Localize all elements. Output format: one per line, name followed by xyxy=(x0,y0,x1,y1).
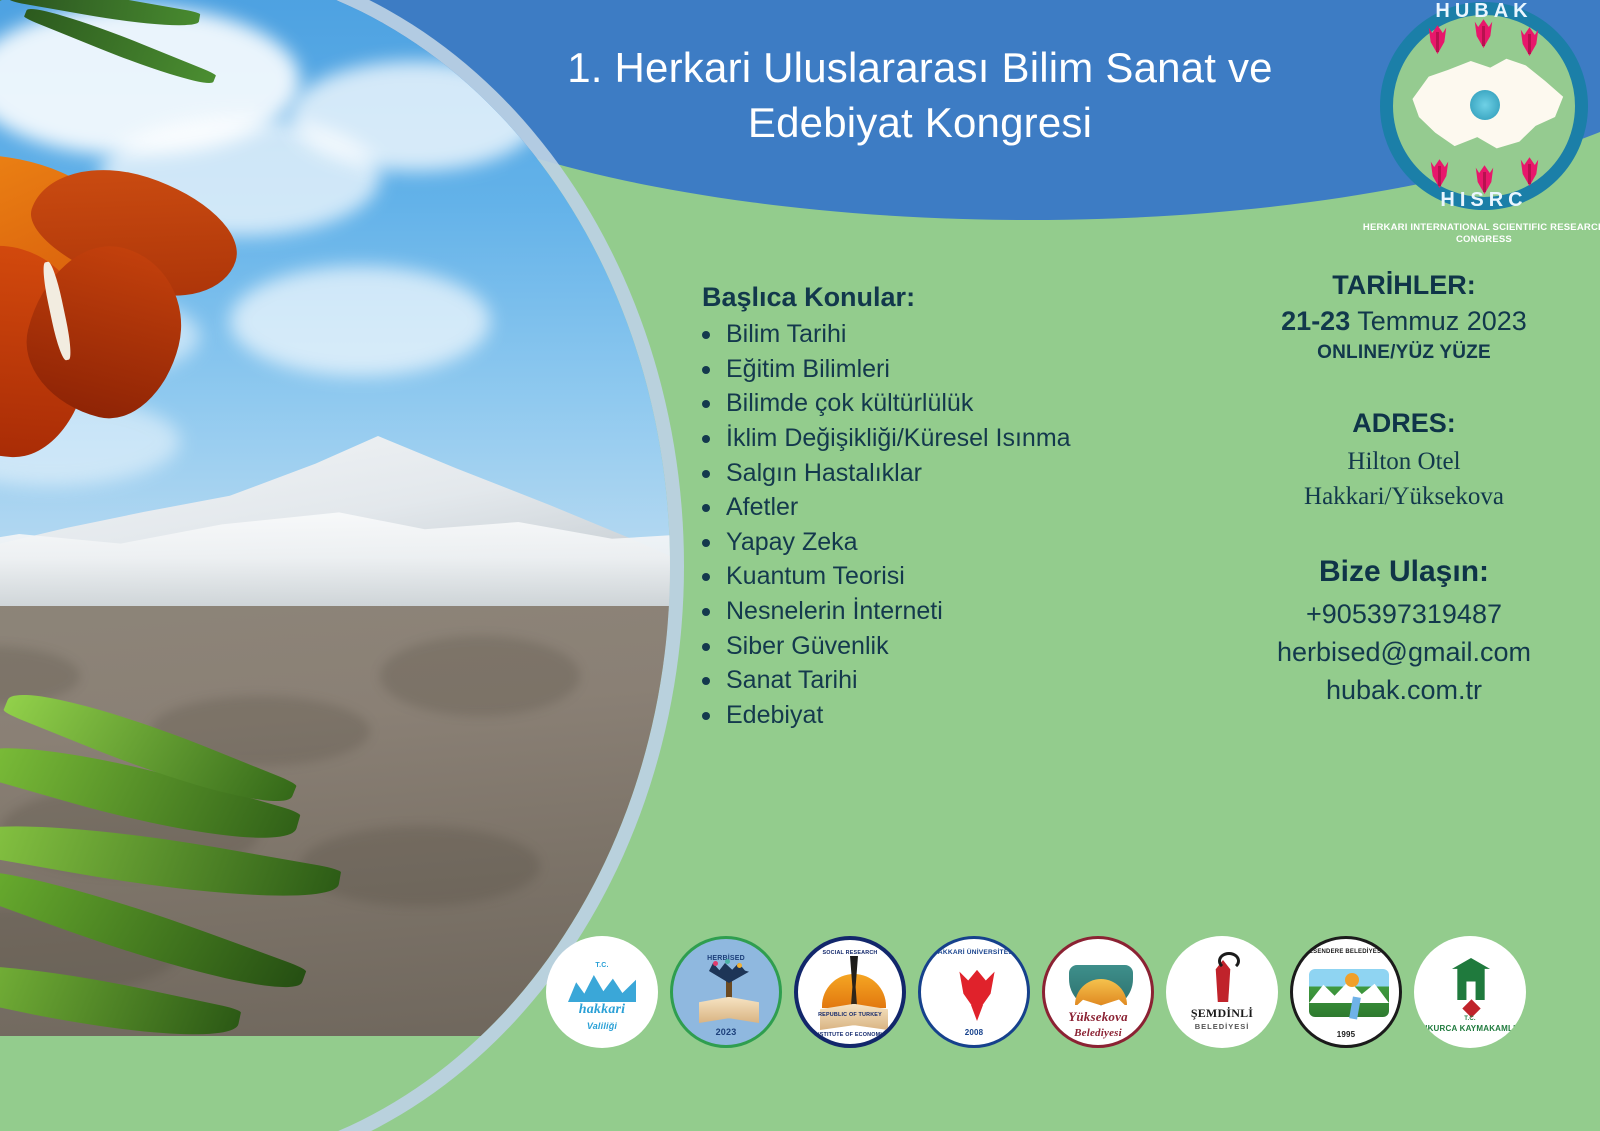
page-title: 1. Herkari Uluslararası Bilim Sanat ve E… xyxy=(470,40,1370,151)
contact-website[interactable]: hubak.com.tr xyxy=(1208,671,1600,709)
list-item: Yapay Zeka xyxy=(694,525,1164,560)
sponsor-2-line3: INSTITUTE OF ECONOMIC xyxy=(798,1032,902,1038)
sponsor-hakkari-universitesi: HAKKARİ ÜNİVERSİTESİ 2008 xyxy=(918,936,1030,1048)
dates-month-year: Temmuz 2023 xyxy=(1350,306,1527,336)
diamond-icon xyxy=(1462,999,1480,1017)
sponsor-yuksekova-belediyesi: Yüksekova Belediyesi xyxy=(1042,936,1154,1048)
list-item: Siber Güvenlik xyxy=(694,629,1164,664)
sponsor-0-line2: hakkari xyxy=(546,1002,658,1018)
list-item: Bilimde çok kültürlülük xyxy=(694,386,1164,421)
logo-subtitle-line-1: HERKARI INTERNATIONAL SCIENTIFIC RESEARC… xyxy=(1330,222,1600,234)
sponsor-5-line3: BELEDİYESİ xyxy=(1166,1022,1278,1031)
logo-subtitle: HERKARI INTERNATIONAL SCIENTIFIC RESEARC… xyxy=(1330,222,1600,246)
sponsor-6-line1: ESENDERE BELEDİYESİ xyxy=(1293,949,1399,955)
sponsor-hakkari-valiligi: T.C. hakkari Valiliği xyxy=(546,936,658,1048)
contact-heading: Bize Ulaşın: xyxy=(1208,555,1600,589)
sponsor-3-line3: 2008 xyxy=(921,1028,1027,1037)
contact-details: +905397319487 herbised@gmail.com hubak.c… xyxy=(1208,595,1600,710)
list-item: Bilim Tarihi xyxy=(694,317,1164,352)
sponsor-herbised: HERBİSED 2023 xyxy=(670,936,782,1048)
contact-email[interactable]: herbised@gmail.com xyxy=(1208,633,1600,671)
list-item: Nesnelerin İnterneti xyxy=(694,594,1164,629)
dates-mode: ONLINE/YÜZ YÜZE xyxy=(1208,342,1600,364)
contact-phone[interactable]: +905397319487 xyxy=(1208,595,1600,633)
topics-list: Bilim Tarihi Eğitim Bilimleri Bilimde ço… xyxy=(694,317,1164,733)
dates-range: 21-23 xyxy=(1281,306,1350,336)
title-line-1: 1. Herkari Uluslararası Bilim Sanat ve xyxy=(470,40,1370,95)
list-item: Eğitim Bilimleri xyxy=(694,352,1164,387)
dates-heading: TARİHLER: xyxy=(1208,270,1600,302)
book-icon xyxy=(699,997,759,1023)
logo-top-text: HUBAK xyxy=(1380,0,1588,23)
sponsor-esendere-belediyesi: ESENDERE BELEDİYESİ 1995 xyxy=(1290,936,1402,1048)
address-line-1: Hilton Otel xyxy=(1208,444,1600,480)
info-column: TARİHLER: 21-23 Temmuz 2023 ONLINE/YÜZ Y… xyxy=(1208,270,1600,710)
logo-bottom-text: HISRC xyxy=(1380,189,1588,212)
sponsor-5-line2: ŞEMDİNLİ xyxy=(1166,1006,1278,1021)
dates-value: 21-23 Temmuz 2023 xyxy=(1208,304,1600,338)
sponsor-cukurca-kaymakamligi: T.C. ÇUKURCA KAYMAKAMLIĞI xyxy=(1414,936,1526,1048)
sponsor-2-line1: SOCIAL RESEARCH xyxy=(798,950,902,956)
sponsor-7-line3: ÇUKURCA KAYMAKAMLIĞI xyxy=(1414,1024,1526,1033)
sponsor-1-line3: 2023 xyxy=(673,1027,779,1037)
topics-section: Başlıca Konular: Bilim Tarihi Eğitim Bil… xyxy=(694,282,1164,733)
sponsor-0-line3: Valiliği xyxy=(546,1021,658,1031)
sponsor-6-line3: 1995 xyxy=(1293,1030,1399,1039)
globe-icon xyxy=(1470,90,1500,120)
logo-subtitle-line-2: CONGRESS xyxy=(1330,234,1600,246)
address-heading: ADRES: xyxy=(1208,408,1600,440)
crown-imperial-flower xyxy=(0,86,360,546)
sponsor-logos: T.C. hakkari Valiliği HERBİSED 2023 SOCI… xyxy=(546,934,1586,1050)
topics-heading: Başlıca Konular: xyxy=(702,282,1164,313)
sponsor-3-line1: HAKKARİ ÜNİVERSİTESİ xyxy=(921,949,1027,956)
title-line-2: Edebiyat Kongresi xyxy=(470,95,1370,150)
list-item: Salgın Hastalıklar xyxy=(694,456,1164,491)
address-line-2: Hakkari/Yüksekova xyxy=(1208,479,1600,515)
sponsor-7-line2: T.C. xyxy=(1414,1016,1526,1022)
sponsor-0-line1: T.C. xyxy=(546,962,658,969)
sponsor-institute-economic-social-research: SOCIAL RESEARCH REPUBLIC OF TURKEY INSTI… xyxy=(794,936,906,1048)
list-item: Kuantum Teorisi xyxy=(694,559,1164,594)
sponsor-4-line2: Yüksekova xyxy=(1045,1009,1151,1025)
congress-poster: 1. Herkari Uluslararası Bilim Sanat ve E… xyxy=(0,0,1600,1131)
list-item: Afetler xyxy=(694,490,1164,525)
sponsor-4-line3: Belediyesi xyxy=(1045,1027,1151,1039)
tree-icon xyxy=(707,961,751,1001)
hubak-logo: HUBAK HISRC HERKARI INTERNATIONAL SCIENT… xyxy=(1380,2,1588,210)
address-value: Hilton Otel Hakkari/Yüksekova xyxy=(1208,444,1600,515)
list-item: Sanat Tarihi xyxy=(694,663,1164,698)
sponsor-2-line2: REPUBLIC OF TURKEY xyxy=(798,1012,902,1018)
sponsor-semdinli-belediyesi: ŞEMDİNLİ BELEDİYESİ xyxy=(1166,936,1278,1048)
emblem-icon xyxy=(1452,958,1490,1000)
list-item: İklim Değişikliği/Küresel Isınma xyxy=(694,421,1164,456)
list-item: Edebiyat xyxy=(694,698,1164,733)
mountain-icon xyxy=(568,972,636,1002)
